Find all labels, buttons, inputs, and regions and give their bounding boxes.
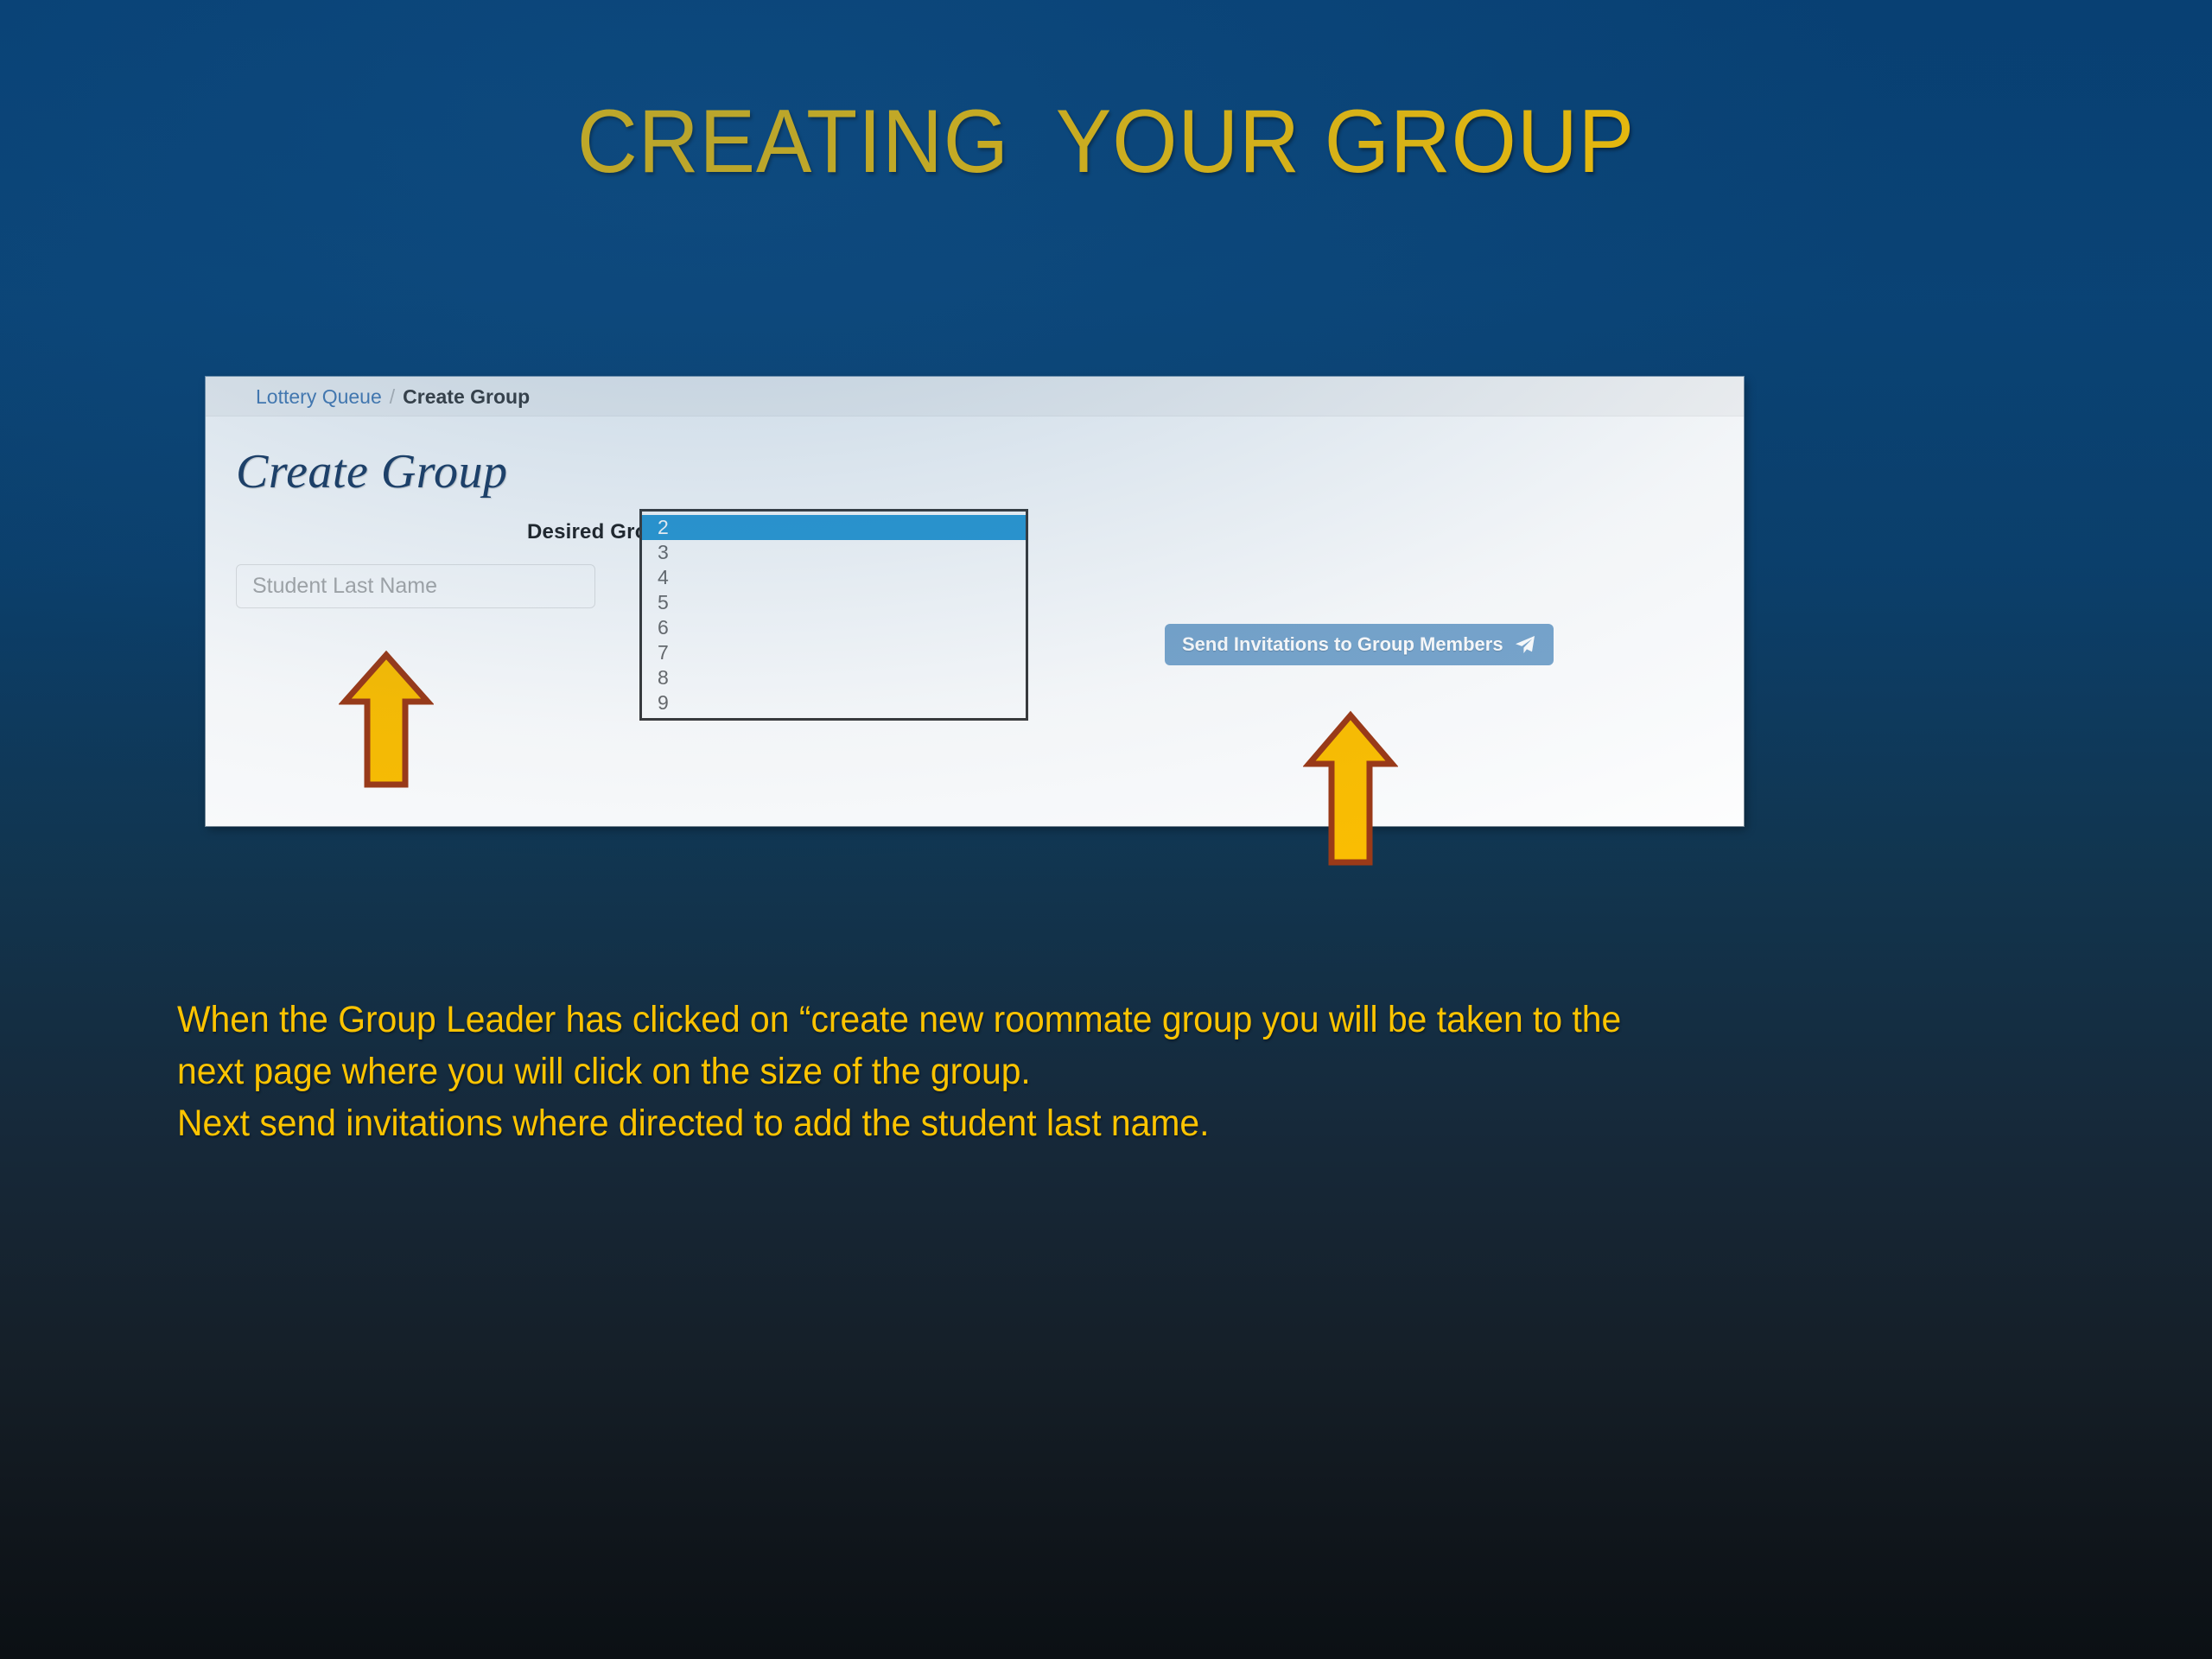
breadcrumb-link-lottery-queue[interactable]: Lottery Queue [256,385,382,408]
group-size-option-4[interactable]: 4 [642,565,1026,590]
breadcrumb: Lottery Queue/Create Group [256,385,530,408]
body-line-1: When the Group Leader has clicked on “cr… [177,994,1819,1046]
body-paragraph: When the Group Leader has clicked on “cr… [177,994,1819,1149]
app-screenshot-image: Lottery Queue/Create Group Create Group … [206,377,1744,826]
group-size-option-5[interactable]: 5 [642,590,1026,615]
group-size-option-3[interactable]: 3 [642,540,1026,565]
send-invitations-button[interactable]: Send Invitations to Group Members [1165,624,1554,665]
group-size-listbox[interactable]: 23456789 [639,509,1028,721]
page-title: CREATING YOUR GROUP [78,95,2135,189]
body-line-3: Next send invitations where directed to … [177,1097,1819,1149]
send-invitations-label: Send Invitations to Group Members [1182,633,1503,656]
create-group-heading: Create Group [236,444,508,499]
callout-arrow-right [1303,710,1398,866]
group-size-option-6[interactable]: 6 [642,615,1026,640]
student-last-name-input[interactable] [236,564,595,608]
breadcrumb-current-create-group: Create Group [403,385,530,408]
paper-plane-icon [1514,634,1536,655]
breadcrumb-separator: / [382,385,403,408]
group-size-option-7[interactable]: 7 [642,640,1026,665]
callout-arrow-left [339,650,434,788]
body-line-2: next page where you will click on the si… [177,1046,1819,1097]
group-size-option-9[interactable]: 9 [642,690,1026,715]
group-size-option-2[interactable]: 2 [642,515,1026,540]
slide-canvas: CREATING YOUR GROUP Lottery Queue/Create… [0,0,2212,1659]
group-size-option-8[interactable]: 8 [642,665,1026,690]
breadcrumb-bar: Lottery Queue/Create Group [206,377,1744,416]
